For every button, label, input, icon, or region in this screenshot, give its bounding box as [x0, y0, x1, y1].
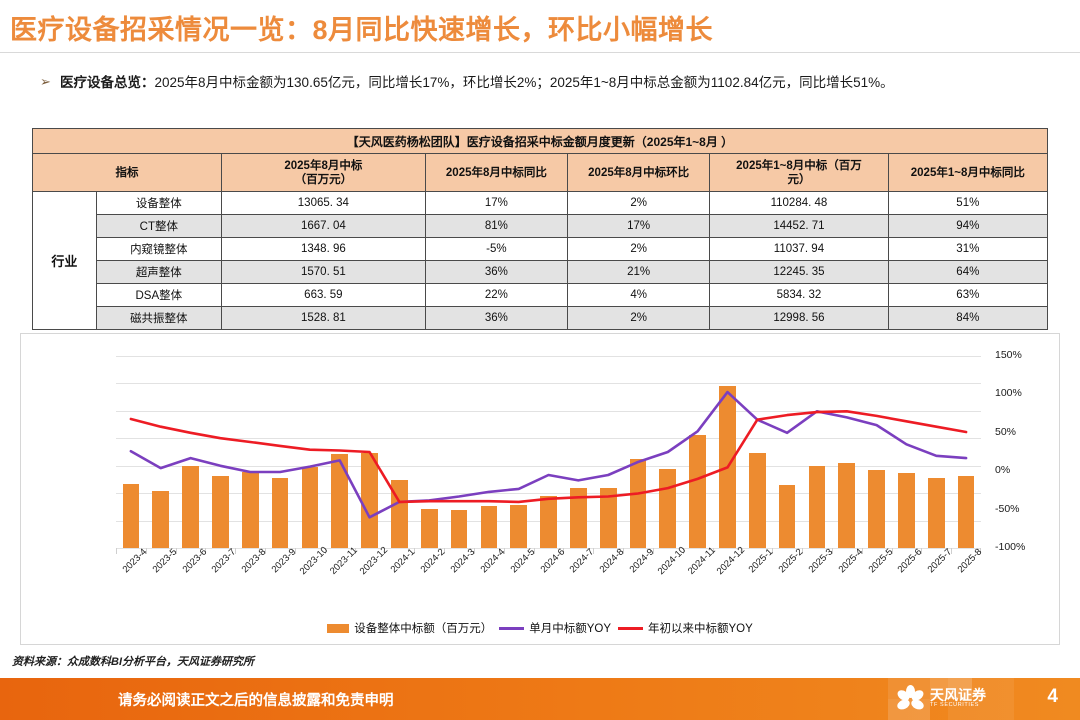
table-cell-aug-yoy: 36%	[425, 307, 567, 330]
table-cell-aug-amount: 1667. 04	[221, 215, 425, 238]
x-label-slot: 2023-6	[176, 554, 206, 606]
x-label-slot: 2024-9	[623, 554, 653, 606]
y-axis-label-right: 0%	[995, 464, 1010, 476]
legend-label: 单月中标额YOY	[529, 620, 611, 636]
table-cell-aug-amount: 663. 59	[221, 284, 425, 307]
x-label-slot: 2024-12	[713, 554, 743, 606]
x-label-slot: 2024-10	[653, 554, 683, 606]
x-label-slot: 2024-1	[384, 554, 414, 606]
table-cell-aug-mom: 4%	[568, 284, 710, 307]
table-caption-row: 【天风医药杨松团队】医疗设备招采中标金额月度更新（2025年1~8月 ）	[33, 129, 1048, 154]
x-label-slot: 2023-4	[116, 554, 146, 606]
x-label-slot: 2025-8	[951, 554, 981, 606]
table-cell-name: DSA整体	[96, 284, 221, 307]
x-label-slot: 2024-4	[474, 554, 504, 606]
bullet-lead: 医疗设备总览：	[60, 75, 155, 90]
legend-swatch-line	[499, 627, 524, 630]
table-header-cell: 2025年8月中标同比	[425, 154, 567, 192]
source-note: 资料来源：众成数科BI分析平台，天风证券研究所	[12, 653, 254, 669]
y-axis-label-right: 50%	[995, 426, 1016, 438]
metrics-table-wrapper: 【天风医药杨松团队】医疗设备招采中标金额月度更新（2025年1~8月 ）指标20…	[32, 128, 1048, 330]
table-header-cell: 2025年8月中标环比	[568, 154, 710, 192]
table-cell-name: 设备整体	[96, 192, 221, 215]
x-label-slot: 2025-5	[862, 554, 892, 606]
table-cell-cum-yoy: 51%	[888, 192, 1047, 215]
x-label-slot: 2025-6	[892, 554, 922, 606]
table-row: 内窥镜整体1348. 96-5%2%11037. 9431%	[33, 238, 1048, 261]
table-cell-cum-amount: 14452. 71	[710, 215, 888, 238]
x-label-slot: 2023-5	[146, 554, 176, 606]
table-cell-cum-amount: 110284. 48	[710, 192, 888, 215]
logo-text-cn: 天风证券	[930, 688, 986, 702]
x-label-slot: 2023-12	[355, 554, 385, 606]
table-cell-cum-yoy: 31%	[888, 238, 1047, 261]
table-cell-cum-amount: 11037. 94	[710, 238, 888, 261]
x-label-slot: 2023-10	[295, 554, 325, 606]
x-label-slot: 2023-9	[265, 554, 295, 606]
table-cell-aug-mom: 21%	[568, 261, 710, 284]
y-axis-label-right: 100%	[995, 387, 1022, 399]
bullet-body: 2025年8月中标金额为130.65亿元，同比增长17%，环比增长2%；2025…	[155, 75, 894, 90]
flower-logo-icon	[898, 685, 924, 711]
table-cell-aug-yoy: -5%	[425, 238, 567, 261]
x-label-slot: 2024-6	[534, 554, 564, 606]
table-row: CT整体1667. 0481%17%14452. 7194%	[33, 215, 1048, 238]
legend-item[interactable]: 单月中标额YOY	[499, 620, 611, 636]
table-cell-name: 内窥镜整体	[96, 238, 221, 261]
table-cell-aug-yoy: 81%	[425, 215, 567, 238]
bid-amount-chart: 0. 005000. 0010000. 0015000. 0020000. 00…	[20, 333, 1060, 645]
table-cell-aug-mom: 2%	[568, 238, 710, 261]
bullet-paragraph: ➢ 医疗设备总览：2025年8月中标金额为130.65亿元，同比增长17%，环比…	[38, 72, 1046, 94]
y-axis-label-right: -50%	[995, 503, 1020, 515]
x-label-slot: 2025-2	[772, 554, 802, 606]
table-cell-cum-yoy: 64%	[888, 261, 1047, 284]
table-group-label: 行业	[33, 192, 97, 330]
x-label-slot: 2025-3	[802, 554, 832, 606]
footer-bar: 请务必阅读正文之后的信息披露和免责申明 天风证券 TF SECURITIES 4	[0, 678, 1080, 720]
table-cell-cum-amount: 12998. 56	[710, 307, 888, 330]
x-label-slot: 2024-5	[504, 554, 534, 606]
table-cell-name: CT整体	[96, 215, 221, 238]
table-cell-aug-yoy: 17%	[425, 192, 567, 215]
table-header-cell: 2025年1~8月中标同比	[888, 154, 1047, 192]
logo-text-en: TF SECURITIES	[930, 702, 986, 708]
legend-item[interactable]: 设备整体中标额（百万元）	[327, 620, 492, 636]
table-cell-aug-mom: 2%	[568, 192, 710, 215]
table-cell-name: 磁共振整体	[96, 307, 221, 330]
table-cell-aug-amount: 13065. 34	[221, 192, 425, 215]
x-label-slot: 2025-7	[921, 554, 951, 606]
x-label-slot: 2025-4	[832, 554, 862, 606]
chart-x-axis-labels: 2023-42023-52023-62023-72023-82023-92023…	[116, 554, 981, 606]
legend-label: 设备整体中标额（百万元）	[354, 620, 492, 636]
table-cell-aug-amount: 1570. 51	[221, 261, 425, 284]
table-cell-cum-yoy: 84%	[888, 307, 1047, 330]
brand-logo: 天风证券 TF SECURITIES	[898, 685, 986, 711]
arrow-bullet-icon: ➢	[38, 72, 60, 91]
table-caption: 【天风医药杨松团队】医疗设备招采中标金额月度更新（2025年1~8月 ）	[33, 129, 1048, 154]
table-cell-cum-amount: 5834. 32	[710, 284, 888, 307]
table-row: 磁共振整体1528. 8136%2%12998. 5684%	[33, 307, 1048, 330]
table-row: 超声整体1570. 5136%21%12245. 3564%	[33, 261, 1048, 284]
page-title: 医疗设备招采情况一览：8月同比快速增长，环比小幅增长	[10, 8, 713, 47]
table-cell-cum-yoy: 63%	[888, 284, 1047, 307]
table-header-row: 指标2025年8月中标（百万元）2025年8月中标同比2025年8月中标环比20…	[33, 154, 1048, 192]
table-cell-aug-yoy: 22%	[425, 284, 567, 307]
table-cell-aug-amount: 1528. 81	[221, 307, 425, 330]
legend-swatch-bar	[327, 624, 349, 633]
table-row: 行业设备整体13065. 3417%2%110284. 4851%	[33, 192, 1048, 215]
x-label-slot: 2023-7	[205, 554, 235, 606]
x-label-slot: 2024-8	[593, 554, 623, 606]
x-label-slot: 2024-11	[683, 554, 713, 606]
table-header-cell: 2025年1~8月中标（百万元）	[710, 154, 888, 192]
table-cell-aug-amount: 1348. 96	[221, 238, 425, 261]
legend-item[interactable]: 年初以来中标额YOY	[618, 620, 753, 636]
slide-page: 医疗设备招采情况一览：8月同比快速增长，环比小幅增长 ➢ 医疗设备总览：2025…	[0, 0, 1080, 720]
page-number: 4	[1047, 686, 1058, 708]
table-row: DSA整体663. 5922%4%5834. 3263%	[33, 284, 1048, 307]
x-label-slot: 2023-8	[235, 554, 265, 606]
footer-disclaimer: 请务必阅读正文之后的信息披露和免责申明	[118, 689, 394, 710]
table-cell-aug-mom: 2%	[568, 307, 710, 330]
table-cell-aug-yoy: 36%	[425, 261, 567, 284]
table-cell-aug-mom: 17%	[568, 215, 710, 238]
title-divider	[0, 52, 1080, 53]
y-axis-label-right: -100%	[995, 541, 1025, 553]
legend-swatch-line	[618, 627, 643, 630]
y-axis-label-right: 150%	[995, 349, 1022, 361]
x-label-slot: 2025-1	[742, 554, 772, 606]
x-label-slot: 2024-7	[563, 554, 593, 606]
x-label-slot: 2024-2	[414, 554, 444, 606]
table-cell-cum-yoy: 94%	[888, 215, 1047, 238]
table-cell-cum-amount: 12245. 35	[710, 261, 888, 284]
x-label-slot: 2023-11	[325, 554, 355, 606]
legend-label: 年初以来中标额YOY	[648, 620, 753, 636]
line-series-layer	[116, 356, 981, 548]
chart-plot-area: 0. 005000. 0010000. 0015000. 0020000. 00…	[116, 356, 981, 548]
x-label-slot: 2024-3	[444, 554, 474, 606]
chart-legend: 设备整体中标额（百万元）单月中标额YOY年初以来中标额YOY	[21, 620, 1059, 636]
metrics-table: 【天风医药杨松团队】医疗设备招采中标金额月度更新（2025年1~8月 ）指标20…	[32, 128, 1048, 330]
table-header-cell: 2025年8月中标（百万元）	[221, 154, 425, 192]
table-header-cell: 指标	[33, 154, 222, 192]
line-ytd-yoy	[131, 411, 966, 502]
bullet-text: 医疗设备总览：2025年8月中标金额为130.65亿元，同比增长17%，环比增长…	[60, 72, 1046, 94]
table-cell-name: 超声整体	[96, 261, 221, 284]
